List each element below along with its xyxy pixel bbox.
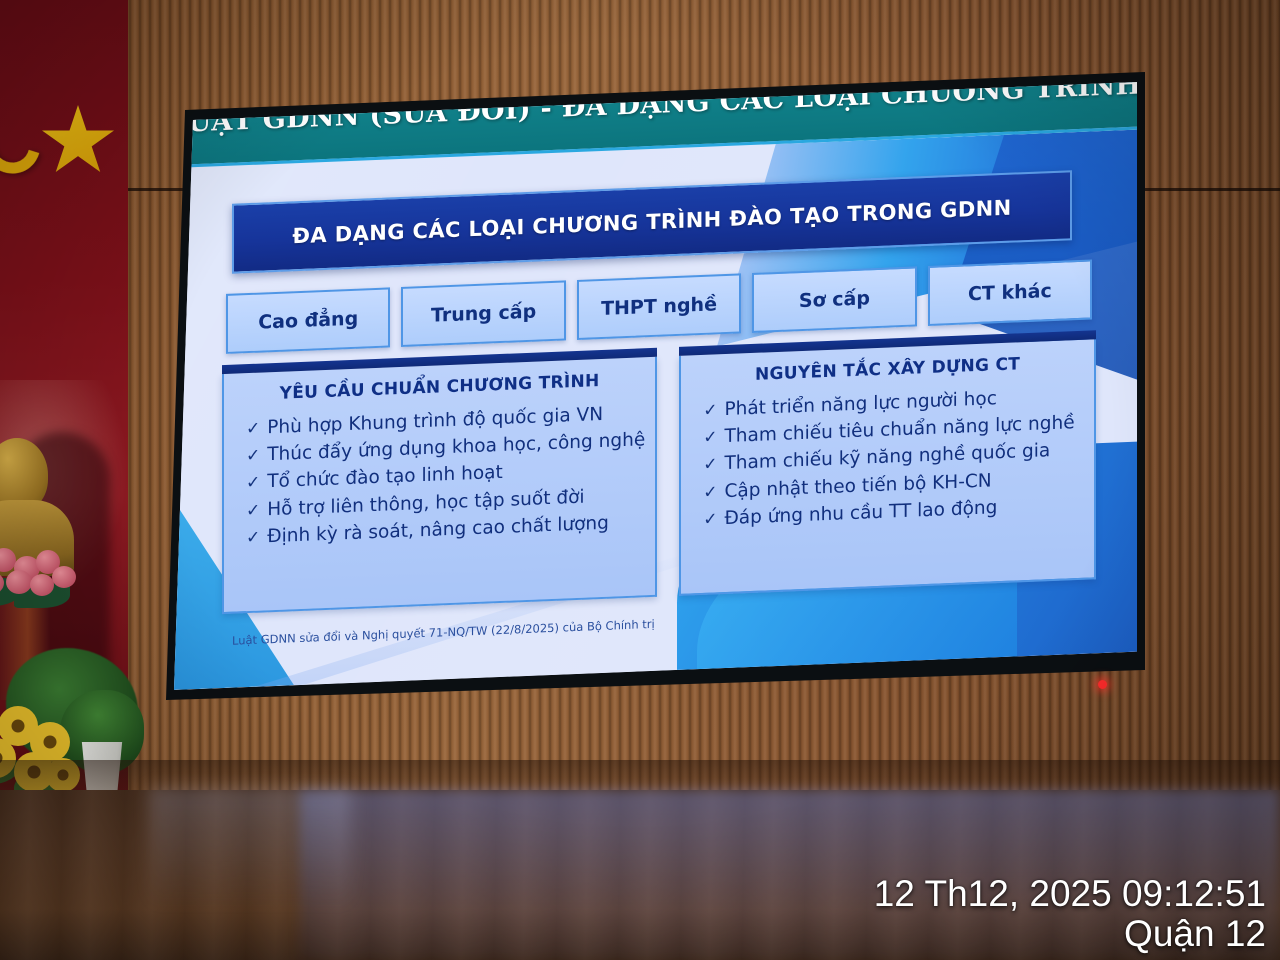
program-type-label: CT khác [968, 280, 1052, 305]
slide-footnote: Luật GDNN sửa đổi và Nghị quyết 71-NQ/TW… [232, 617, 655, 648]
slide: LUẬT GDNN (SỬA ĐỔI) - ĐA DẠNG CÁC LOẠI C… [174, 72, 1137, 690]
photo-scene: LUẬT GDNN (SỬA ĐỔI) - ĐA DẠNG CÁC LOẠI C… [0, 0, 1280, 960]
camera-timestamp-overlay: 12 Th12, 2025 09:12:51 Quận 12 [874, 874, 1266, 954]
timestamp-datetime: 12 Th12, 2025 09:12:51 [874, 874, 1266, 914]
program-type-ct-khac[interactable]: CT khác [928, 259, 1092, 326]
power-led-indicator [1098, 680, 1107, 689]
check-icon: ✓ [703, 453, 717, 479]
panel-yeu-cau-chuan-chuong-trinh: YÊU CẦU CHUẨN CHƯƠNG TRÌNH ✓Phù hợp Khun… [222, 357, 657, 614]
program-type-thpt-nghe[interactable]: THPT nghề [577, 273, 741, 340]
check-icon: ✓ [246, 444, 260, 470]
program-type-cao-dang[interactable]: Cao đẳng [226, 287, 390, 354]
display-screen: LUẬT GDNN (SỬA ĐỔI) - ĐA DẠNG CÁC LOẠI C… [160, 72, 1145, 712]
panel-title: YÊU CẦU CHUẨN CHƯƠNG TRÌNH [234, 369, 645, 405]
slide-body: ĐA DẠNG CÁC LOẠI CHƯƠNG TRÌNH ĐÀO TẠO TR… [174, 130, 1137, 690]
check-icon: ✓ [246, 417, 260, 443]
check-icon: ✓ [246, 471, 260, 497]
main-banner-text: ĐA DẠNG CÁC LOẠI CHƯƠNG TRÌNH ĐÀO TẠO TR… [292, 196, 1011, 249]
check-icon: ✓ [703, 398, 717, 424]
timestamp-place: Quận 12 [874, 914, 1266, 954]
main-banner: ĐA DẠNG CÁC LOẠI CHƯƠNG TRÌNH ĐÀO TẠO TR… [232, 170, 1072, 273]
floor-highlight [150, 788, 350, 908]
check-icon: ✓ [246, 525, 260, 551]
check-icon: ✓ [703, 426, 717, 452]
program-type-label: Sơ cấp [799, 287, 870, 312]
panel-list: ✓Phù hợp Khung trình độ quốc gia VN ✓Thú… [234, 399, 645, 551]
panel-list: ✓Phát triển năng lực người học ✓Tham chi… [691, 382, 1084, 534]
program-type-label: THPT nghề [601, 293, 717, 320]
check-icon: ✓ [246, 498, 260, 524]
pink-flower-arrangement [0, 548, 84, 610]
program-type-label: Cao đẳng [258, 308, 358, 334]
panel-title: NGUYÊN TẮC XÂY DỰNG CT [691, 352, 1084, 388]
check-icon: ✓ [703, 480, 717, 506]
program-type-label: Trung cấp [431, 301, 536, 327]
program-type-trung-cap[interactable]: Trung cấp [401, 280, 565, 347]
panel-nguyen-tac-xay-dung-ct: NGUYÊN TẮC XÂY DỰNG CT ✓Phát triển năng … [679, 339, 1096, 596]
panels-row: YÊU CẦU CHUẨN CHƯƠNG TRÌNH ✓Phù hợp Khun… [222, 339, 1096, 614]
program-type-so-cap[interactable]: Sơ cấp [752, 266, 916, 333]
presentation-display[interactable]: LUẬT GDNN (SỬA ĐỔI) - ĐA DẠNG CÁC LOẠI C… [160, 72, 1145, 712]
check-icon: ✓ [703, 507, 717, 533]
